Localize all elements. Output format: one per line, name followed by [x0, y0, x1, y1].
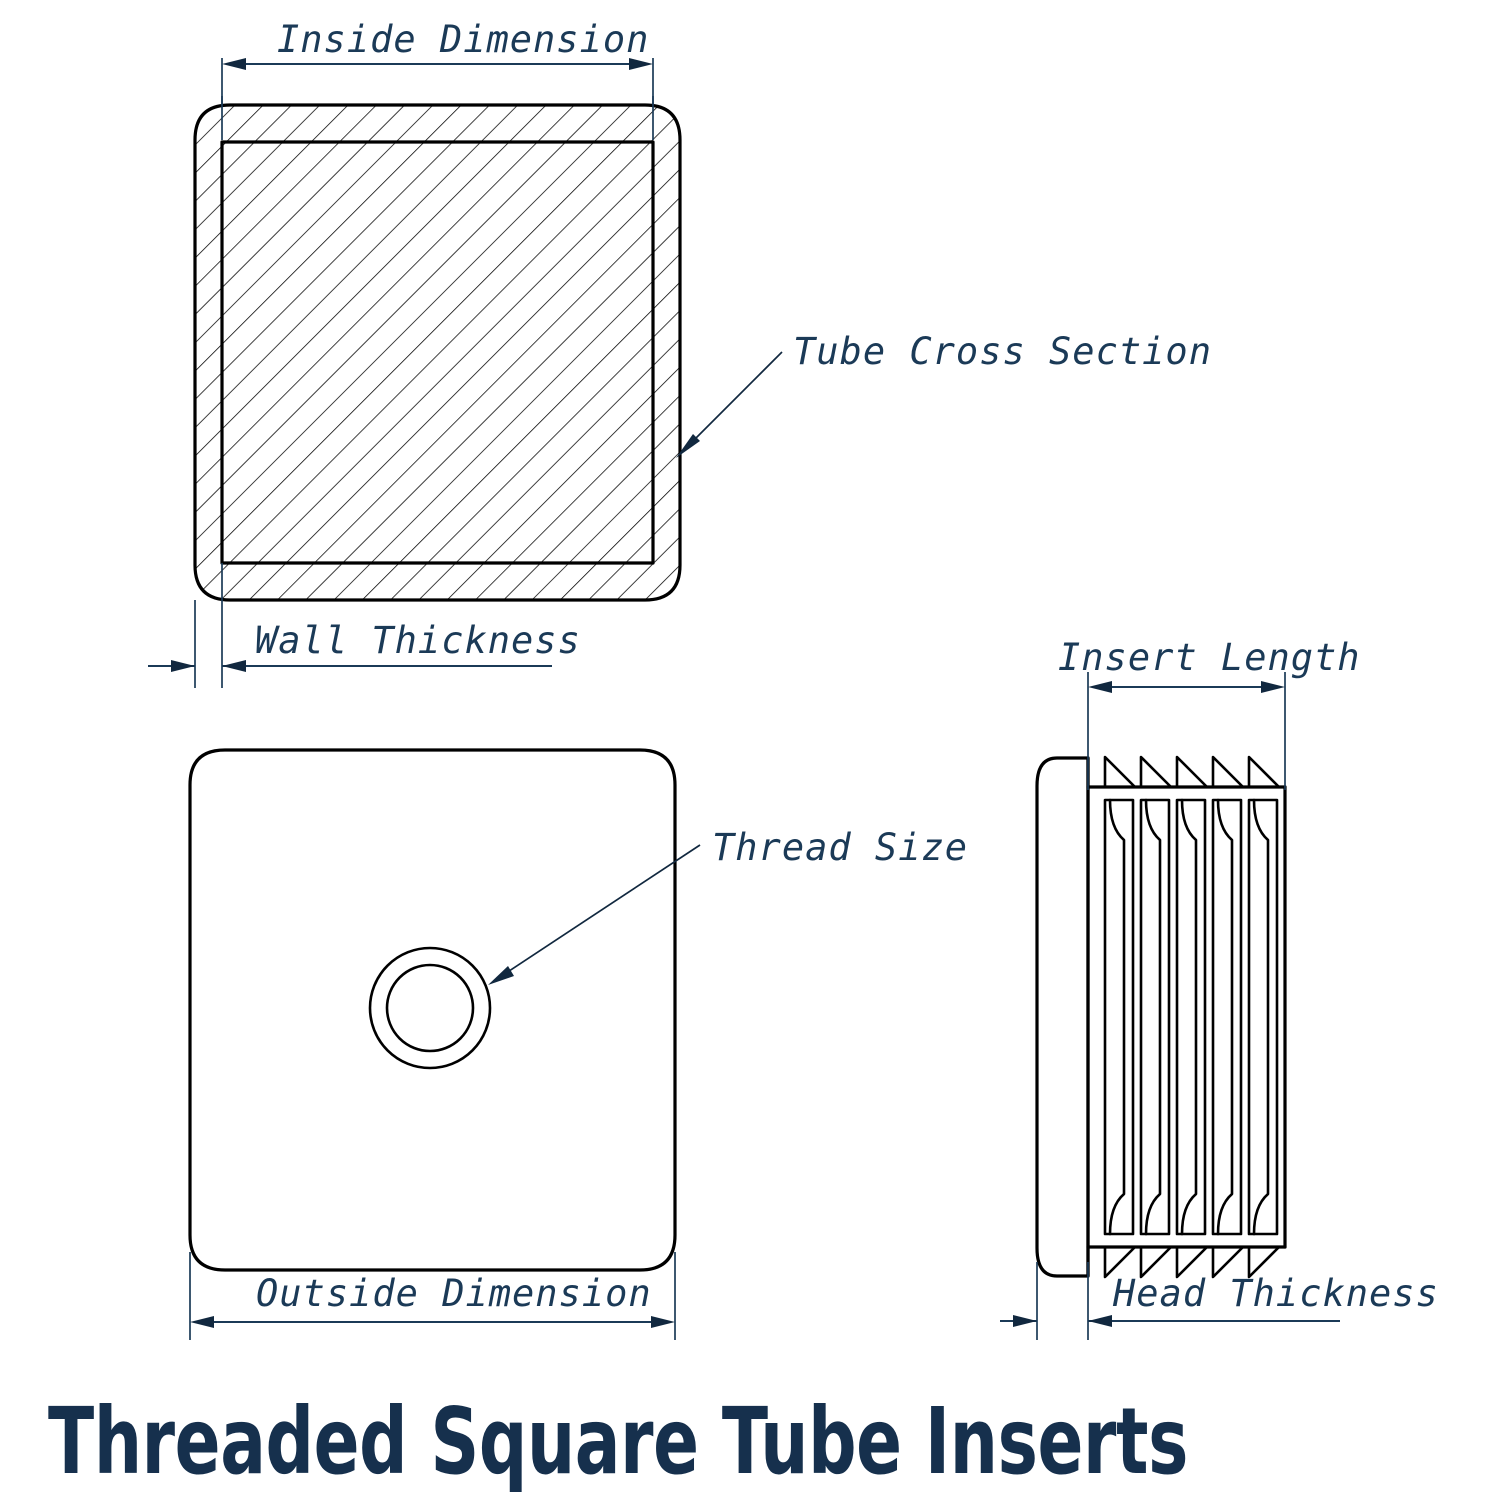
tube-cross-section-label: Tube Cross Section	[793, 330, 1212, 373]
insert-face-profile	[190, 750, 675, 1270]
insert-front-view: Thread Size Outside Dimension	[190, 750, 968, 1340]
head-thickness-label: Head Thickness	[1112, 1272, 1439, 1315]
tube-wall-hatching	[190, 100, 690, 610]
thread-size-arrowhead	[488, 966, 514, 985]
insert-length-label: Insert Length	[1058, 636, 1361, 679]
top-barb-5	[1249, 757, 1279, 787]
rib-1	[1105, 800, 1133, 1234]
tube-cross-section-view: Inside Dimension Tube Cross Section Wall…	[148, 18, 1212, 688]
outside-dim-arrow-right	[651, 1316, 675, 1328]
insert-head-flange	[1037, 758, 1088, 1276]
thread-size-label: Thread Size	[712, 826, 968, 869]
tube-cross-section-leader	[686, 352, 782, 448]
insert-length-arrow-right	[1261, 681, 1285, 693]
rib-5	[1249, 800, 1277, 1234]
top-barb-3	[1177, 757, 1207, 787]
rib-2	[1141, 800, 1169, 1234]
top-barb-2	[1141, 757, 1171, 787]
drawing-canvas: Inside Dimension Tube Cross Section Wall…	[0, 0, 1500, 1500]
head-thk-arrow-right	[1088, 1315, 1112, 1327]
insert-top-barbs	[1105, 757, 1279, 787]
insert-ribs	[1105, 800, 1277, 1234]
page-title: Threaded Square Tube Inserts	[48, 1388, 1188, 1495]
inside-dimension-label: Inside Dimension	[277, 18, 649, 61]
thread-size-leader	[500, 845, 700, 977]
technical-drawing-svg: Inside Dimension Tube Cross Section Wall…	[0, 0, 1500, 1500]
wall-thk-arrow-left	[171, 660, 195, 672]
head-thk-arrow-left	[1013, 1315, 1037, 1327]
insert-side-view: Insert Length Head Thickness	[1000, 636, 1439, 1340]
top-barb-4	[1213, 757, 1243, 787]
insert-length-arrow-left	[1088, 681, 1112, 693]
outside-dimension-label: Outside Dimension	[256, 1272, 652, 1315]
outside-dim-arrow-left	[190, 1316, 214, 1328]
top-barb-1	[1105, 757, 1135, 787]
thread-inner-circle	[387, 965, 473, 1051]
inside-dim-arrow-left	[222, 58, 246, 70]
wall-thickness-label: Wall Thickness	[255, 619, 581, 662]
rib-4	[1213, 800, 1241, 1234]
rib-3	[1177, 800, 1205, 1234]
wall-thk-arrow-right	[222, 660, 246, 672]
